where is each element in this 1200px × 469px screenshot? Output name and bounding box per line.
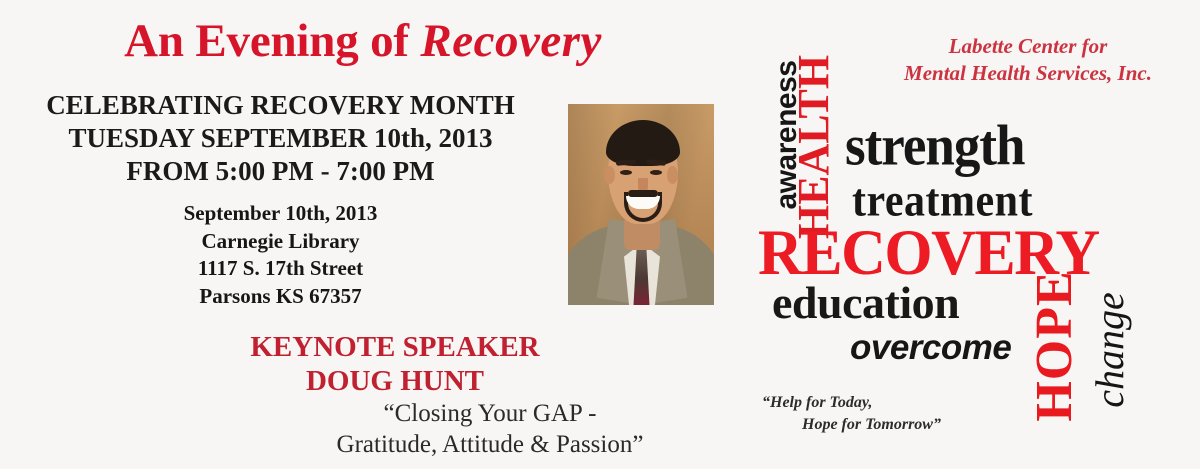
keynote-topic-line-2: Gratitude, Attitude & Passion”	[230, 429, 750, 460]
keynote-speaker-heading: KEYNOTE SPEAKER DOUG HUNT	[150, 330, 640, 398]
word-cloud-graphic: Labette Center for Mental Health Service…	[740, 0, 1200, 469]
venue-date: September 10th, 2013	[8, 200, 553, 228]
organization-tagline: “Help for Today, Hope for Tomorrow”	[762, 392, 941, 435]
title-roman-part: An Evening of	[124, 15, 420, 67]
eye-left	[620, 170, 632, 175]
mustache	[628, 190, 658, 197]
keynote-speaker-name: DOUG HUNT	[150, 364, 640, 398]
title-italic-part: Recovery	[420, 15, 601, 67]
keynote-topic-line-1: “Closing Your GAP -	[230, 398, 750, 429]
keynote-label: KEYNOTE SPEAKER	[150, 330, 640, 364]
organization-name: Labette Center for Mental Health Service…	[858, 33, 1198, 88]
word-strength: strength	[845, 118, 1024, 175]
event-detail-line-1: CELEBRATING RECOVERY MONTH	[8, 89, 553, 122]
page-title: An Evening of Recovery	[18, 17, 708, 67]
event-details-block: CELEBRATING RECOVERY MONTH TUESDAY SEPTE…	[8, 89, 553, 188]
venue-street: 1117 S. 17th Street	[8, 255, 553, 283]
tagline-line-2: Hope for Tomorrow”	[762, 414, 941, 436]
recovery-event-flyer: An Evening of Recovery CELEBRATING RECOV…	[0, 0, 1200, 469]
word-hope: HOPE	[1029, 251, 1081, 441]
keynote-topic-title: “Closing Your GAP - Gratitude, Attitude …	[230, 398, 750, 460]
word-change: change	[1090, 265, 1130, 435]
event-detail-line-2: TUESDAY SEPTEMBER 10th, 2013	[8, 122, 553, 155]
venue-city-state-zip: Parsons KS 67357	[8, 283, 553, 311]
venue-address-block: September 10th, 2013 Carnegie Library 11…	[8, 200, 553, 311]
tagline-line-1: “Help for Today,	[762, 394, 872, 411]
ear-left	[604, 166, 615, 184]
event-detail-line-3: FROM 5:00 PM - 7:00 PM	[8, 155, 553, 188]
word-education: education	[772, 280, 959, 326]
organization-name-line-2: Mental Health Services, Inc.	[858, 60, 1198, 87]
word-overcome: overcome	[850, 330, 1011, 365]
ear-right	[667, 166, 678, 184]
event-information-panel: An Evening of Recovery CELEBRATING RECOV…	[0, 0, 740, 469]
venue-name: Carnegie Library	[8, 228, 553, 256]
eye-right	[650, 170, 662, 175]
organization-name-line-1: Labette Center for	[858, 33, 1198, 60]
speaker-headshot-photo	[568, 104, 714, 305]
